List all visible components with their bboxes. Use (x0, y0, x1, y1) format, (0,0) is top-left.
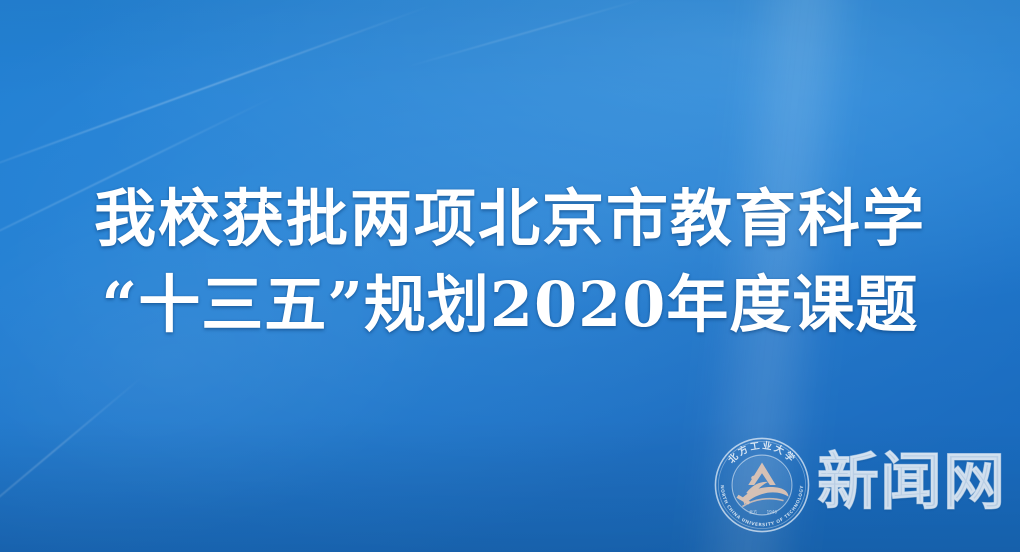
seal-founded-year: 1946 (767, 509, 778, 514)
watermark-logo: 北方工业大学 NORTH CHINA UNIVERSITY OF TECHNOL… (713, 426, 1006, 544)
news-banner: 我校获批两项北京市教育科学 “十三五”规划2020年度课题 (0, 0, 1020, 552)
watermark-site-name: 新闻网 (817, 451, 1006, 519)
university-seal-icon: 北方工业大学 NORTH CHINA UNIVERSITY OF TECHNOL… (713, 436, 811, 534)
seal-founded-label: 北方 (749, 508, 757, 514)
